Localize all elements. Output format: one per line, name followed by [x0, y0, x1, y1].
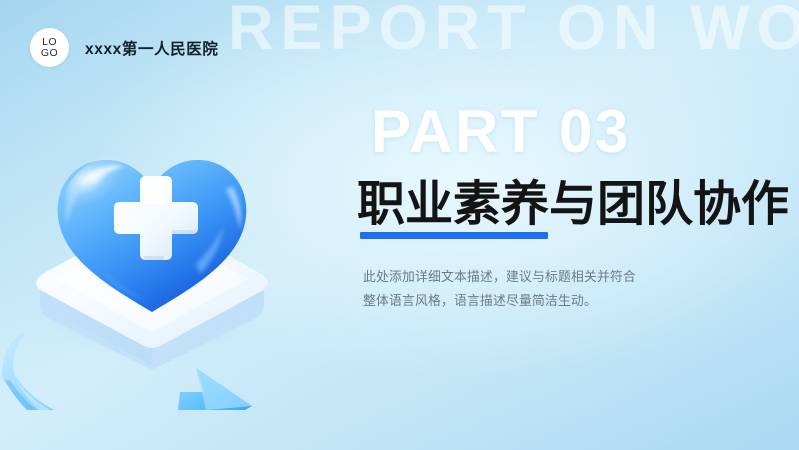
slide-canvas: REPORT ON WORK LO GO xxxx第一人民医院 [0, 0, 799, 450]
organization-name: xxxx第一人民医院 [85, 37, 218, 59]
slide-header: LO GO xxxx第一人民医院 [30, 28, 218, 67]
part-label: PART 03 [371, 102, 799, 162]
logo-line-1: LO [42, 37, 57, 48]
description-text: 此处添加详细文本描述，建议与标题相关并符合整体语言风格，语言描述尽量简洁生动。 [363, 266, 645, 313]
logo-line-2: GO [41, 48, 58, 59]
logo-icon[interactable]: LO GO [30, 28, 69, 67]
page-title: 职业素养与团队协作 [357, 180, 799, 230]
title-underline-accent [360, 232, 548, 239]
section-title-wrap: 职业素养与团队协作 [357, 180, 799, 239]
content-block: PART 03 职业素养与团队协作 此处添加详细文本描述，建议与标题相关并符合整… [357, 102, 799, 313]
hero-illustration [0, 80, 330, 410]
watermark-report-on-work: REPORT ON WORK [228, 0, 799, 64]
